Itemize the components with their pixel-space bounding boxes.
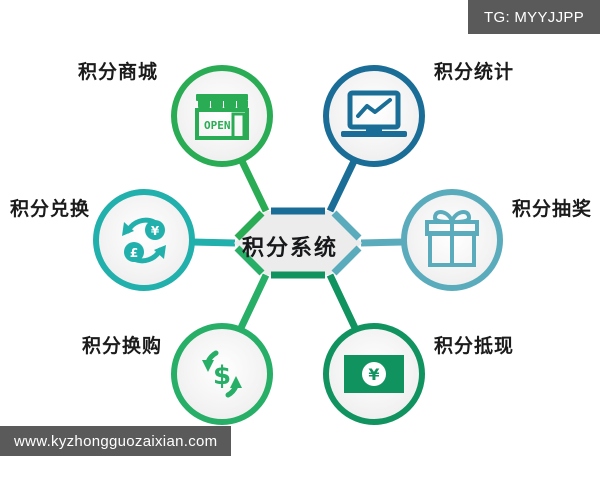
- node-lottery[interactable]: [404, 192, 500, 288]
- connector-exchange: [192, 242, 235, 243]
- connector-cash: [330, 275, 356, 330]
- node-redemption[interactable]: $: [174, 326, 270, 422]
- node-label-cash: 积分抵现: [434, 331, 514, 358]
- svg-text:£: £: [130, 246, 138, 260]
- node-label-lottery: 积分抽奖: [512, 194, 592, 221]
- svg-text:OPEN: OPEN: [204, 119, 231, 132]
- website-watermark-badge: www.kyzhongguozaixian.com: [0, 426, 231, 456]
- node-label-redemption: 积分换购: [82, 331, 162, 358]
- node-exchange[interactable]: ¥ £: [96, 192, 192, 288]
- node-label-statistics: 积分统计: [434, 57, 514, 84]
- connector-lottery: [361, 242, 404, 243]
- connector-statistics: [330, 157, 356, 211]
- connector-redemption: [240, 275, 266, 330]
- svg-text:¥: ¥: [151, 224, 160, 238]
- node-cash[interactable]: ¥: [326, 326, 422, 422]
- telegram-watermark-badge: TG: MYYJJPP: [468, 0, 600, 34]
- node-label-mall: 积分商城: [78, 57, 158, 84]
- node-mall[interactable]: OPEN: [174, 68, 270, 164]
- node-statistics[interactable]: [326, 68, 422, 164]
- center-hexagon-label: 积分系统: [242, 230, 338, 262]
- node-label-exchange: 积分兑换: [10, 194, 90, 221]
- svg-text:¥: ¥: [368, 365, 379, 384]
- connector-mall: [240, 157, 266, 211]
- svg-text:$: $: [213, 361, 231, 391]
- diagram-canvas: OPEN ¥: [0, 0, 600, 480]
- banknote-yuan-icon: ¥: [344, 355, 404, 393]
